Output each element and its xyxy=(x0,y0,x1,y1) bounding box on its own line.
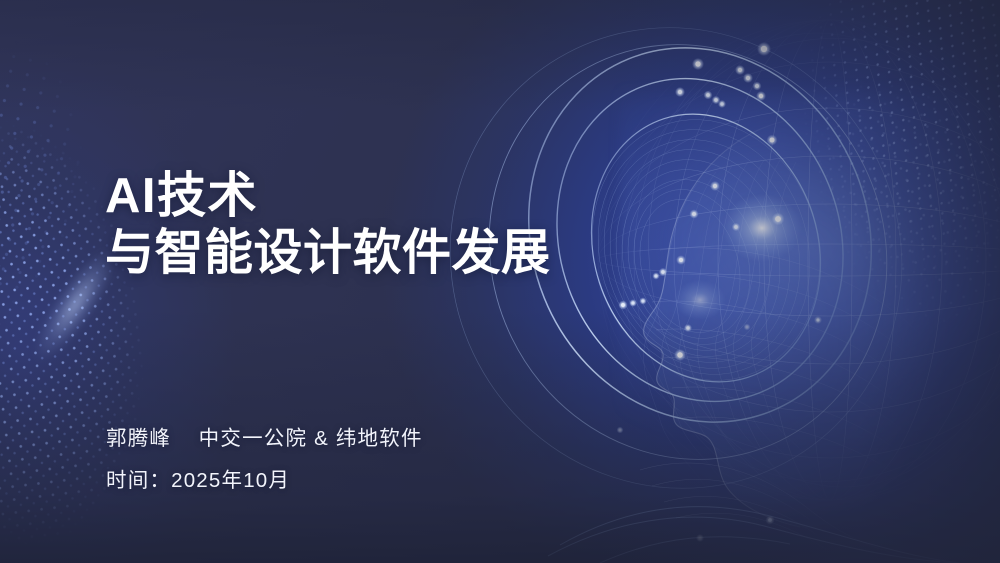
title-line-1: AI技术 xyxy=(105,169,258,223)
title-line-2: 与智能设计软件发展 xyxy=(105,226,551,280)
presenter-line: 郭腾峰 中交一公院 & 纬地软件 xyxy=(106,428,423,449)
title-block: AI技术 与智能设计软件发展 xyxy=(105,168,551,282)
page-title: AI技术 与智能设计软件发展 xyxy=(105,168,551,282)
date-line: 时间：2025年10月 xyxy=(106,470,423,491)
meta-block: 郭腾峰 中交一公院 & 纬地软件 时间：2025年10月 xyxy=(106,428,423,491)
title-slide: AI技术 与智能设计软件发展 郭腾峰 中交一公院 & 纬地软件 时间：2025年… xyxy=(0,0,1000,563)
